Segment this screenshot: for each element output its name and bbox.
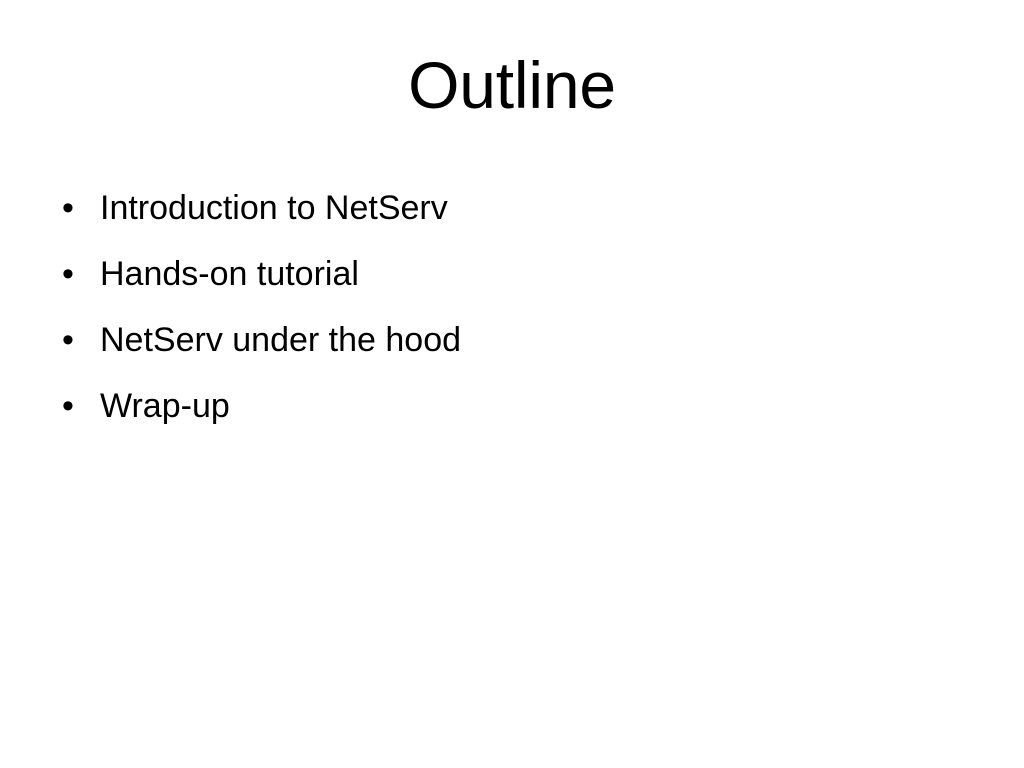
list-item: • NetServ under the hood bbox=[56, 318, 966, 384]
presentation-slide: Outline • Introduction to NetServ • Hand… bbox=[0, 0, 1024, 768]
bullet-item-label: Hands-on tutorial bbox=[100, 252, 966, 296]
page-title: Outline bbox=[0, 52, 1024, 118]
bullet-point-icon: • bbox=[56, 318, 100, 362]
bullet-item-label: Wrap-up bbox=[100, 384, 966, 428]
bullet-item-label: NetServ under the hood bbox=[100, 318, 966, 362]
outline-bullet-list: • Introduction to NetServ • Hands-on tut… bbox=[56, 186, 966, 450]
bullet-point-icon: • bbox=[56, 384, 100, 428]
list-item: • Wrap-up bbox=[56, 384, 966, 450]
bullet-item-label: Introduction to NetServ bbox=[100, 186, 966, 230]
bullet-point-icon: • bbox=[56, 186, 100, 230]
list-item: • Introduction to NetServ bbox=[56, 186, 966, 252]
bullet-point-icon: • bbox=[56, 252, 100, 296]
list-item: • Hands-on tutorial bbox=[56, 252, 966, 318]
